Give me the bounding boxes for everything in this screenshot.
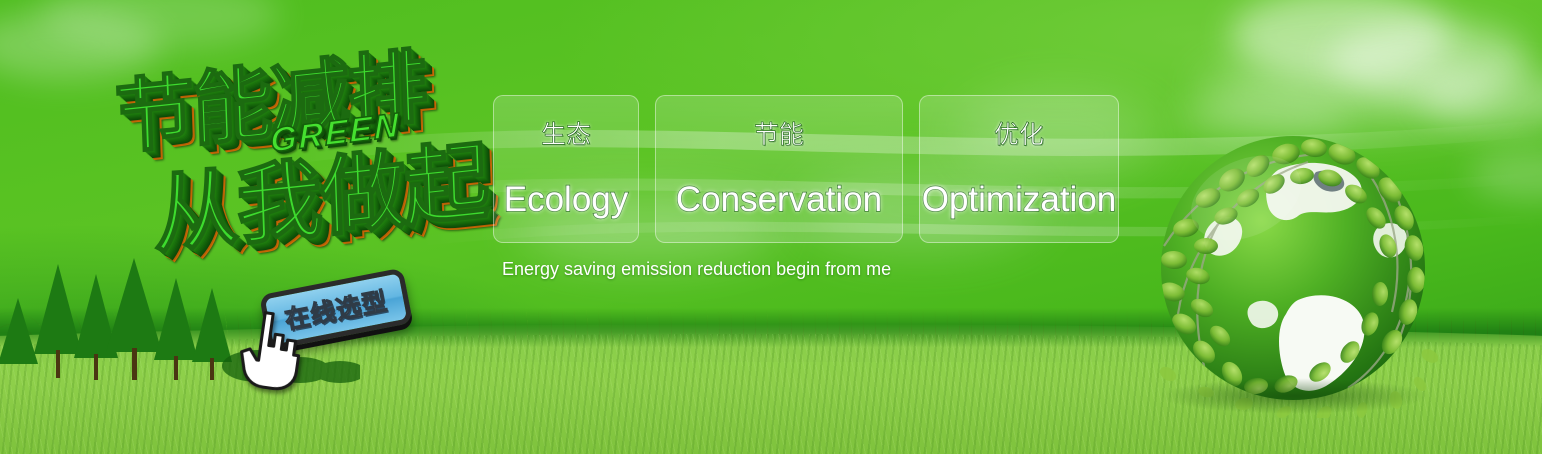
feature-card-group: 生态 Ecology 节能 Conservation 优化 Optimizati…: [493, 95, 1119, 243]
feature-card-ecology[interactable]: 生态 Ecology: [493, 95, 639, 243]
globe-illustration: [1148, 128, 1438, 418]
feature-card-optimization[interactable]: 优化 Optimization: [919, 95, 1119, 243]
leafy-earth-globe: [1148, 128, 1438, 418]
tagline-text: Energy saving emission reduction begin f…: [502, 259, 891, 280]
card-title-cn: 优化: [994, 123, 1044, 148]
headline-artwork: 节能减排 GREEN 从我做起: [100, 36, 490, 276]
card-title-en: Ecology: [504, 182, 629, 217]
globe-shadow: [1158, 378, 1430, 414]
card-title-cn: 生态: [541, 123, 591, 148]
pointing-hand-cursor-icon: [235, 308, 309, 394]
green-energy-banner: 节能减排 GREEN 从我做起 在线选型 生态 Ecology 节能 Conse…: [0, 0, 1542, 454]
card-title-cn: 节能: [754, 123, 804, 148]
feature-card-conservation[interactable]: 节能 Conservation: [655, 95, 903, 243]
card-title-en: Conservation: [676, 182, 882, 217]
card-title-en: Optimization: [922, 182, 1117, 217]
